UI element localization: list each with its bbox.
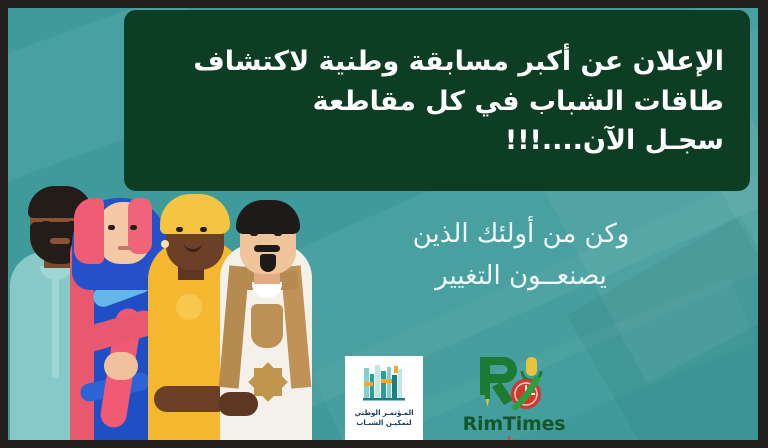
hand: [104, 352, 138, 380]
rimtimes-name: RimTimes: [463, 413, 566, 435]
vest-pendant: [251, 304, 283, 348]
eye: [274, 231, 282, 236]
rimtimes-logo-mark: [471, 353, 557, 415]
robe-placket: [52, 274, 59, 378]
headline-line-1: الإعلان عن أكبر مسابقة وطنية لاكتشاف: [193, 42, 724, 81]
conference-name-line-2: لتمكيـن الشبـاب: [355, 418, 414, 428]
eye: [42, 221, 50, 226]
poster-canvas: الإعلان عن أكبر مسابقة وطنية لاكتشاف طاق…: [8, 8, 758, 440]
subtitle-line-2: يصنعــون التغيير: [306, 255, 736, 297]
eye: [250, 231, 258, 236]
subtitle-line-1: وكن من أولئك الذين: [306, 213, 736, 255]
conference-logo: المـؤتمـر الوطني لتمكيـن الشبـاب: [345, 356, 423, 440]
subtitle-block: وكن من أولئك الذين يصنعــون التغيير: [306, 213, 736, 297]
earring: [161, 240, 169, 248]
rimtimes-logo: RimTimes ريم تايمز: [458, 348, 570, 440]
eye: [200, 227, 207, 232]
headline-line-3: سجـل الآن....!!!: [505, 121, 724, 160]
goatee: [260, 254, 276, 272]
headline-line-2: طاقات الشباب في كل مقاطعة: [313, 82, 724, 121]
conference-logo-mark: [361, 362, 407, 404]
rimtimes-name-arabic: ريم تايمز: [487, 434, 541, 440]
eye: [130, 225, 137, 230]
conference-name-line-1: المـؤتمـر الوطني: [355, 408, 414, 418]
headwrap: [160, 194, 230, 234]
dress-motif: [176, 294, 202, 320]
headline-panel: الإعلان عن أكبر مسابقة وطنية لاكتشاف طاق…: [124, 10, 750, 191]
conference-logo-text: المـؤتمـر الوطني لتمكيـن الشبـاب: [355, 408, 414, 428]
hijab-fold: [74, 198, 104, 264]
people-illustration: [8, 178, 298, 440]
poster: الإعلان عن أكبر مسابقة وطنية لاكتشاف طاق…: [0, 0, 768, 448]
mouth: [50, 238, 70, 244]
eye: [108, 225, 115, 230]
eye: [176, 227, 183, 232]
moustache: [254, 245, 280, 252]
hair: [236, 200, 300, 234]
hand: [218, 392, 258, 416]
mouth: [118, 246, 132, 250]
